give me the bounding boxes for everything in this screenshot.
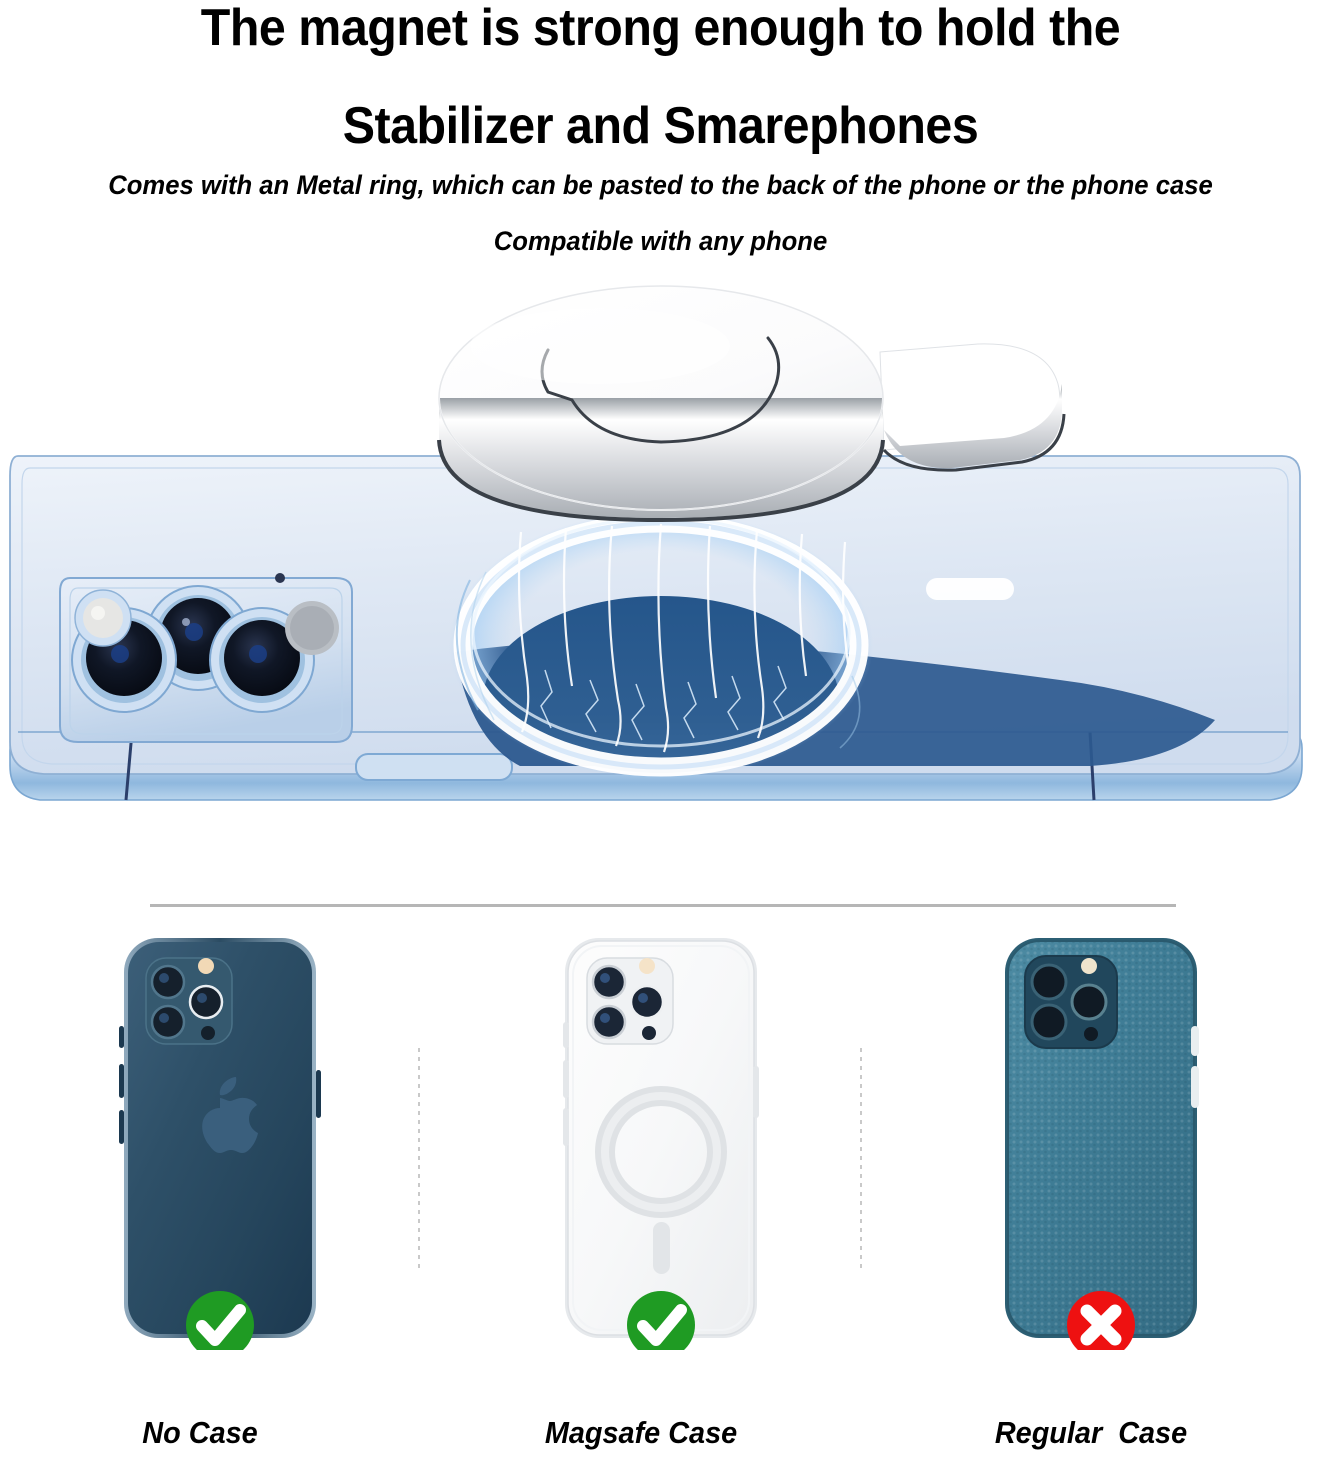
clear-magsafe-case	[441, 930, 881, 1360]
leather-case-teal	[881, 930, 1321, 1360]
microphone-dot	[275, 573, 285, 583]
lidar-sensor	[285, 601, 339, 655]
caption-regular-case: Regular Case	[886, 1415, 1295, 1451]
camera-flash	[75, 590, 131, 646]
camera-module	[60, 573, 352, 742]
caption-magsafe-case: Magsafe Case	[436, 1415, 845, 1451]
screen-reflection-pill	[926, 578, 1014, 600]
compat-item-no-case[interactable]	[0, 930, 440, 1470]
hero-product-illustration	[0, 280, 1321, 850]
headline-line-2: Stabilizer and Smarephones	[46, 100, 1275, 152]
compat-item-regular-case[interactable]	[881, 930, 1321, 1470]
bare-phone-pacific-blue	[0, 930, 440, 1360]
subheadline-line-2: Compatible with any phone	[33, 228, 1288, 255]
section-divider	[150, 904, 1176, 907]
subheadline-line-1: Comes with an Metal ring, which can be p…	[33, 172, 1288, 199]
headline-line-1: The magnet is strong enough to hold the	[46, 2, 1275, 54]
compat-item-magsafe-case[interactable]	[441, 930, 881, 1470]
caption-no-case: No Case	[0, 1415, 405, 1451]
compatibility-captions: No Case Magsafe Case Regular Case	[0, 1415, 1321, 1465]
